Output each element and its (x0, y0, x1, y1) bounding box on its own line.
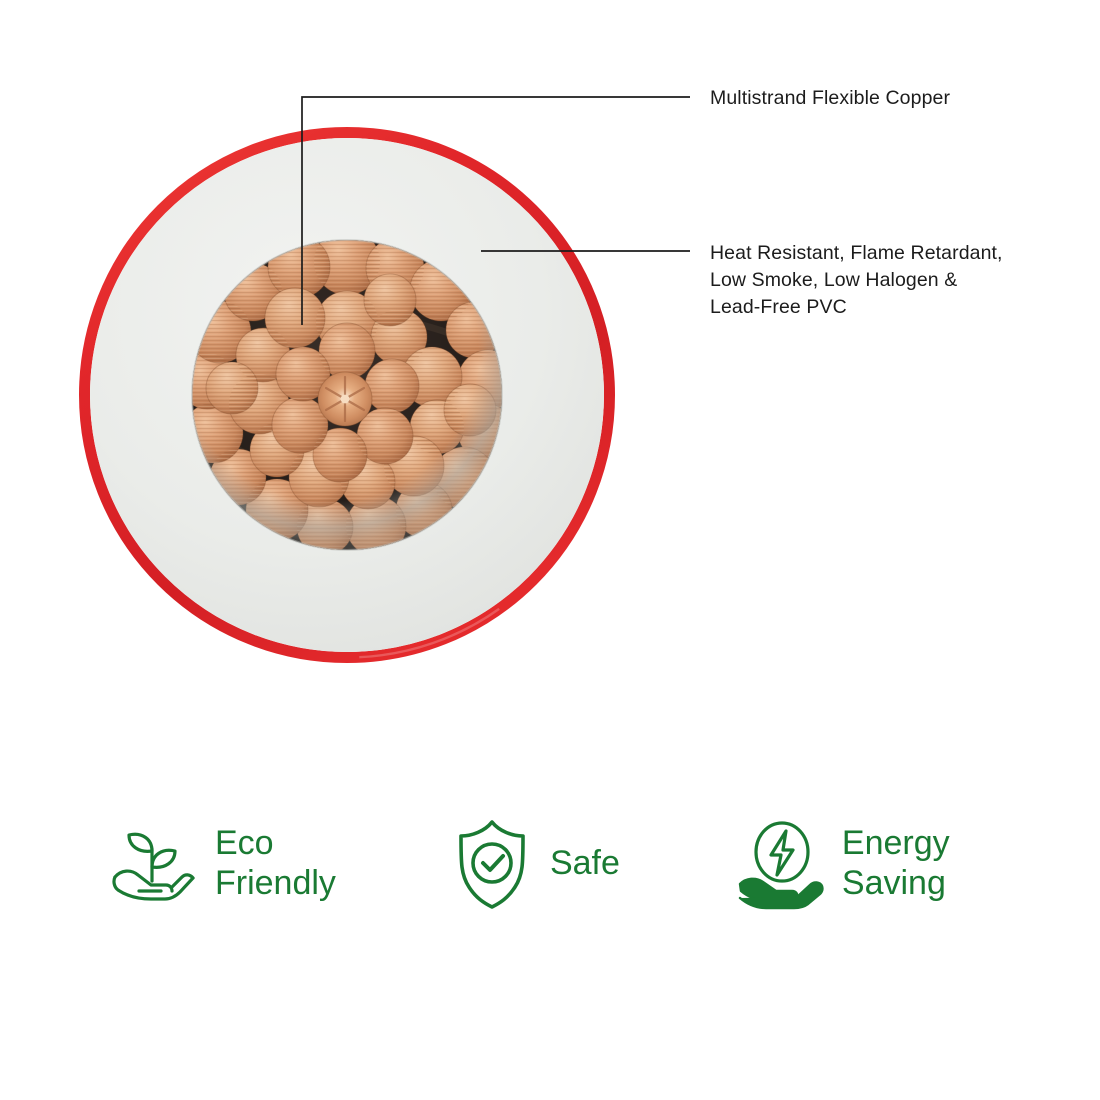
badge-label-safe: Safe (550, 843, 620, 883)
callout-label-pvc-insulation: Heat Resistant, Flame Retardant, Low Smo… (710, 240, 1003, 321)
infographic-canvas: Multistrand Flexible Copper Heat Resista… (0, 0, 1100, 1100)
badge-energy-saving: Energy Saving (732, 815, 950, 911)
feature-badge-row: Eco Friendly Safe (0, 815, 1100, 945)
hand-holding-bolt-icon (732, 815, 828, 911)
badge-safe: Safe (448, 815, 620, 911)
badge-label-eco-friendly: Eco Friendly (215, 823, 336, 903)
shield-check-icon (448, 815, 536, 911)
badge-label-energy-saving: Energy Saving (842, 823, 950, 903)
hand-holding-sprout-icon (105, 815, 201, 911)
callout-label-multistrand-copper: Multistrand Flexible Copper (710, 85, 950, 112)
badge-eco-friendly: Eco Friendly (105, 815, 336, 911)
